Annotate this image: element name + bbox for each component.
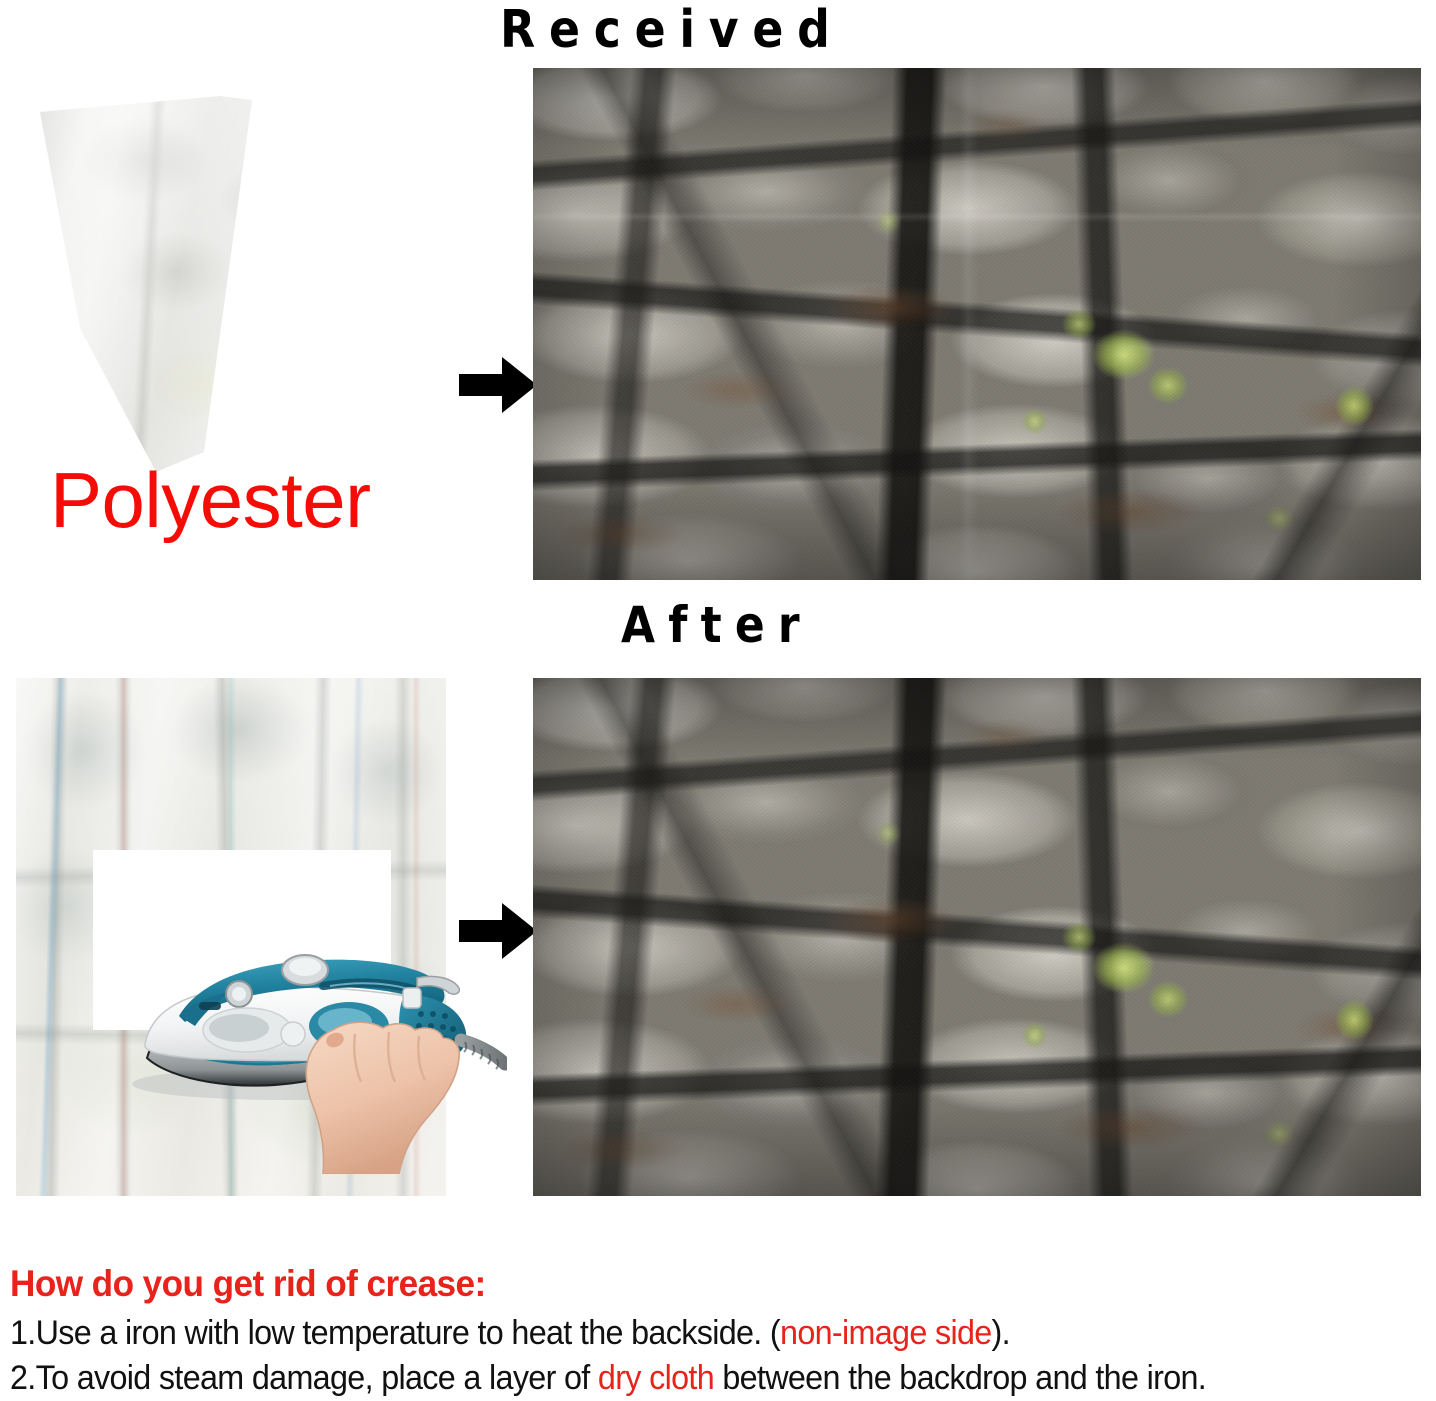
arrow-shaft [459, 920, 506, 942]
care-instruction-line-1: 1.Use a iron with low temperature to hea… [10, 1311, 1359, 1355]
iron-demo-photo [93, 850, 391, 1030]
rock-vignette [533, 678, 1421, 1196]
right-arrow-icon [459, 903, 537, 959]
right-arrow-icon [459, 357, 537, 413]
rock-vignette [533, 68, 1421, 580]
care-instruction-line-2: 2.To avoid steam damage, place a layer o… [10, 1356, 1359, 1400]
folded-fabric-shading [24, 88, 424, 488]
rock-photo-layers [533, 678, 1421, 1196]
material-label-polyester: Polyester [50, 458, 371, 542]
care-instructions-heading: How do you get rid of crease: [10, 1262, 1359, 1306]
care-line-2-suffix: between the backdrop and the iron. [714, 1359, 1206, 1397]
received-backdrop-photo [533, 68, 1421, 580]
folded-fabric-image [24, 88, 424, 488]
steam-iron-illustration [87, 844, 507, 1174]
arrow-head [502, 357, 537, 413]
section-heading-after: After [621, 598, 813, 652]
care-line-2-prefix: 2.To avoid steam damage, place a layer o… [10, 1359, 598, 1397]
care-instructions: How do you get rid of crease: 1.Use a ir… [10, 1262, 1430, 1400]
care-line-1-prefix: 1.Use a iron with low temperature to hea… [10, 1314, 780, 1352]
arrow-shaft [459, 374, 506, 396]
after-backdrop-photo [533, 678, 1421, 1196]
care-line-1-suffix: ). [992, 1314, 1010, 1352]
section-heading-received: Received [500, 2, 844, 58]
care-line-1-highlight: non-image side [780, 1314, 992, 1352]
arrow-head [502, 903, 537, 959]
care-line-2-highlight: dry cloth [598, 1359, 714, 1397]
rock-photo-layers [533, 68, 1421, 580]
